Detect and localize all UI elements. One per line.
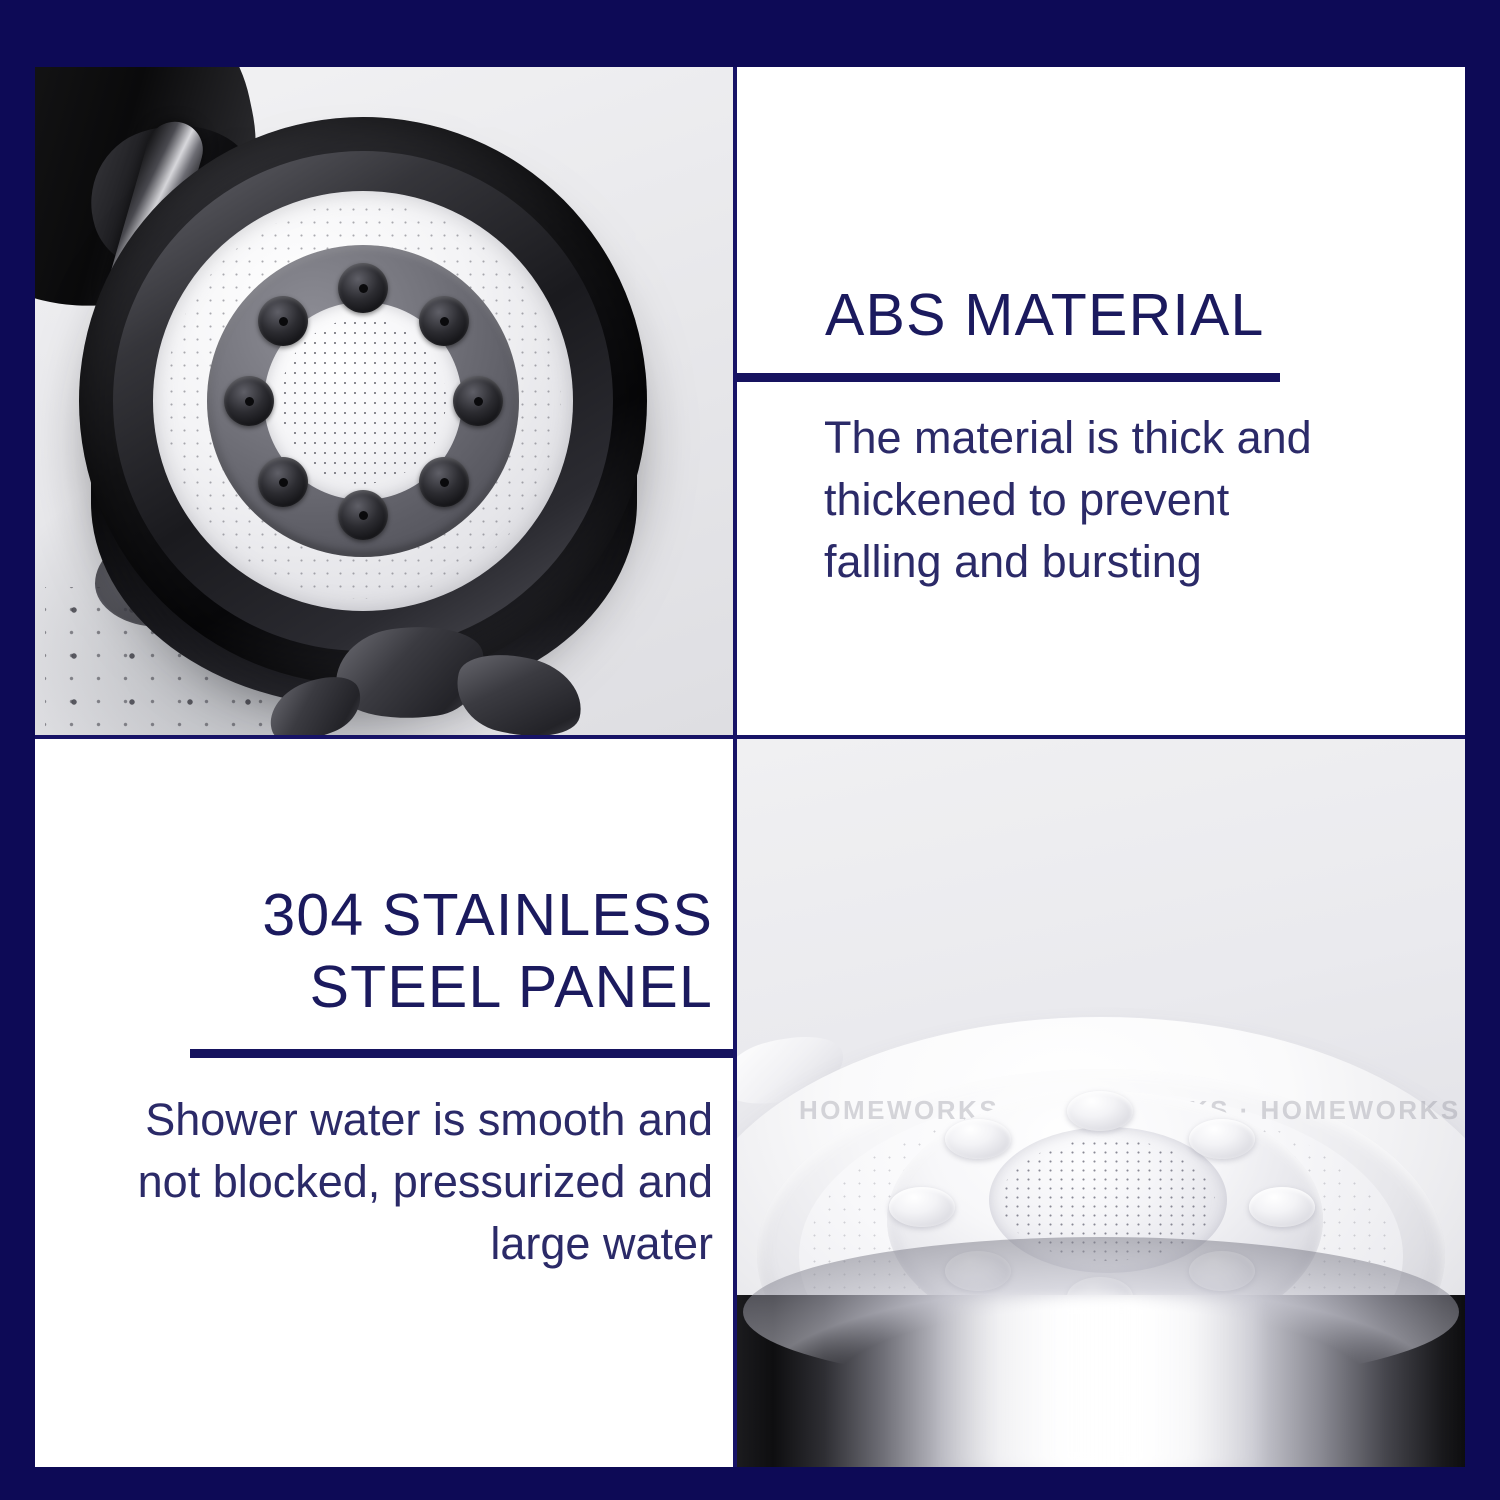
white-head-backdrop: HOMEWORKS · HOMEWORKS · HOMEWORKS (737, 739, 1465, 1467)
infographic-canvas: ABS MATERIAL The material is thick and t… (0, 0, 1500, 1500)
abs-material-body: The material is thick and thickened to p… (824, 407, 1384, 593)
body-line: falling and bursting (824, 531, 1384, 593)
heading-line: STEEL PANEL (93, 951, 713, 1023)
jet-nozzle-icon (338, 490, 388, 540)
steel-panel-underline-bar (190, 1049, 733, 1058)
chrome-specular-highlight (937, 1299, 1267, 1467)
panel-steel: 304 STAINLESS STEEL PANEL Shower water i… (35, 739, 733, 1467)
jet-nozzle-icon (258, 296, 308, 346)
abs-material-heading: ABS MATERIAL (825, 283, 1425, 347)
steel-panel-heading: 304 STAINLESS STEEL PANEL (93, 879, 713, 1023)
content-frame: ABS MATERIAL The material is thick and t… (35, 67, 1465, 1467)
abs-material-underline-bar (737, 373, 1280, 382)
body-line: large water (93, 1213, 713, 1275)
jet-nozzle-icon (1249, 1187, 1315, 1227)
jet-nozzle-icon (1067, 1091, 1133, 1131)
heading-line: 304 STAINLESS (93, 879, 713, 951)
body-line: thickened to prevent (824, 469, 1384, 531)
jet-nozzle-icon (419, 457, 469, 507)
jet-nozzle-icon (338, 263, 388, 313)
black-head-backdrop (35, 67, 733, 735)
steel-panel-body: Shower water is smooth and not blocked, … (93, 1089, 713, 1275)
photo-black-shower-head (35, 67, 733, 735)
body-line: Shower water is smooth and (93, 1089, 713, 1151)
body-line: not blocked, pressurized and (93, 1151, 713, 1213)
jet-nozzle-icon (453, 376, 503, 426)
photo-white-shower-head: HOMEWORKS · HOMEWORKS · HOMEWORKS (737, 739, 1465, 1467)
panel-abs-material: ABS MATERIAL The material is thick and t… (737, 67, 1465, 735)
jet-nozzle-icon (419, 296, 469, 346)
jet-nozzle-icon (945, 1119, 1011, 1159)
jet-nozzle-icon (889, 1187, 955, 1227)
divider-horizontal (35, 735, 1465, 739)
divider-vertical (733, 67, 737, 1467)
body-line: The material is thick and (824, 407, 1384, 469)
jet-nozzle-icon (258, 457, 308, 507)
jet-nozzle-icon (1189, 1119, 1255, 1159)
jet-nozzle-icon (224, 376, 274, 426)
